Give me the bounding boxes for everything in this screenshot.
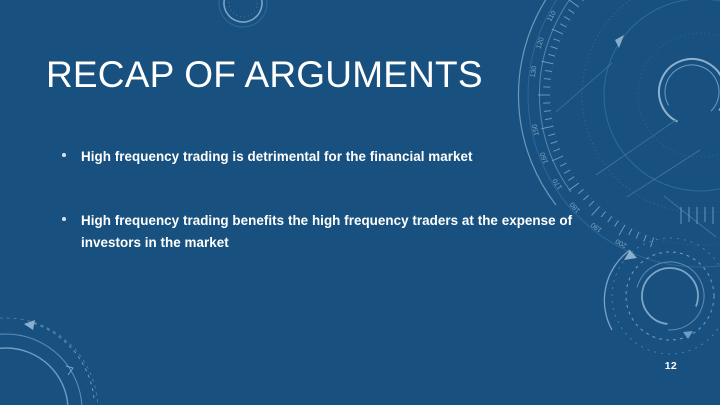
page-number: 12 [665, 360, 677, 372]
slide-title: RECAP OF ARGUMENTS [46, 52, 483, 98]
bullet-dot-icon [62, 146, 81, 157]
svg-text:110: 110 [546, 10, 557, 23]
top-center-ring-group [217, 0, 268, 29]
svg-text:120: 120 [536, 37, 546, 50]
svg-text:190: 190 [590, 221, 604, 234]
list-item-label: High frequency trading is detrimental fo… [81, 146, 592, 168]
list-item-label: High frequency trading benefits the high… [81, 210, 592, 254]
linear-tick-scale [681, 207, 713, 224]
svg-text:150: 150 [532, 123, 541, 136]
presentation-slide: 200 190 180 170 160 150 130 120 110 100 … [0, 0, 720, 405]
bullet-dot-icon [62, 210, 81, 221]
bullet-list: High frequency trading is detrimental fo… [62, 146, 592, 254]
list-item: High frequency trading is detrimental fo… [62, 146, 592, 168]
svg-text:200: 200 [614, 237, 628, 249]
bottom-right-rings-group [604, 238, 720, 354]
list-item: High frequency trading benefits the high… [62, 210, 592, 254]
svg-text:130: 130 [530, 65, 539, 78]
bottom-left-arcs-group [0, 318, 98, 405]
